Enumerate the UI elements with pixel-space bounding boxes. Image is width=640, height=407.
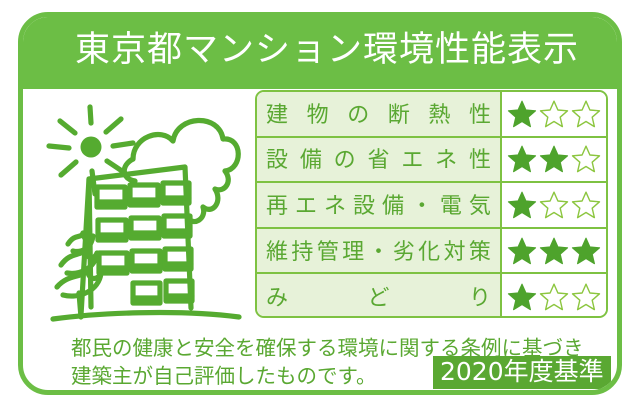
star-filled-icon [539, 236, 569, 266]
environmental-performance-label-card: 東京都マンション環境性能表示 [18, 12, 622, 395]
rating-table: 建 物 の 断 熱 性 設 備 の 省 エ ネ 性 再 [255, 90, 608, 318]
rating-label-insulation: 建 物 の 断 熱 性 [257, 92, 502, 136]
star-rating-insulation [502, 92, 606, 136]
star-rating-renewable-energy [502, 183, 606, 227]
rating-label-renewable-energy: 再 エ ネ 設 備 ・ 電 気 [257, 183, 502, 227]
star-filled-icon [571, 236, 601, 266]
table-row: 再 エ ネ 設 備 ・ 電 気 [257, 183, 606, 229]
apartment-building-icon [81, 167, 192, 315]
footer-note: 都民の健康と安全を確保する環境に関する条例に基づき 建築主が自己評価したものです… [71, 335, 491, 391]
page-title: 東京都マンション環境性能表示 [71, 33, 579, 68]
rating-label-equipment-energy-saving: 設 備 の 省 エ ネ 性 [257, 138, 502, 182]
year-standard-badge: 2020年度基準 [433, 356, 611, 389]
star-filled-icon [507, 282, 537, 312]
table-row: 建 物 の 断 熱 性 [257, 92, 606, 138]
star-empty-icon [571, 282, 601, 312]
star-rating-greenery [502, 274, 606, 318]
star-empty-icon [571, 99, 601, 129]
label-header: 東京都マンション環境性能表示 [18, 12, 622, 89]
conifer-tree-icon [57, 233, 101, 317]
star-rating-maintenance-durability [502, 229, 606, 273]
star-empty-icon [539, 282, 569, 312]
star-filled-icon [507, 190, 537, 220]
table-row: 設 備 の 省 エ ネ 性 [257, 138, 606, 184]
table-row: み ど り [257, 274, 606, 318]
star-filled-icon [507, 144, 537, 174]
star-empty-icon [539, 190, 569, 220]
rating-label-maintenance-durability: 維 持 管 理 ・ 劣 化 対 策 [257, 229, 502, 273]
star-filled-icon [507, 236, 537, 266]
star-rating-equipment-energy-saving [502, 138, 606, 182]
star-filled-icon [507, 99, 537, 129]
star-empty-icon [571, 144, 601, 174]
star-empty-icon [539, 99, 569, 129]
footer-note-line-1: 都民の健康と安全を確保する環境に関する条例に基づき [71, 335, 491, 363]
star-empty-icon [571, 190, 601, 220]
table-row: 維 持 管 理 ・ 劣 化 対 策 [257, 229, 606, 275]
rating-label-greenery: み ど り [257, 274, 502, 318]
footer-note-line-2: 建築主が自己評価したものです。 [71, 363, 491, 391]
star-filled-icon [539, 144, 569, 174]
eco-building-illustration [37, 93, 259, 333]
